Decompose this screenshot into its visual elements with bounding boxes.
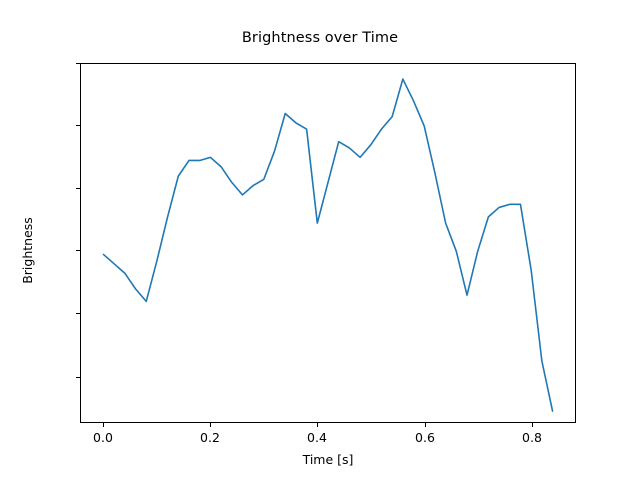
x-tick-label: 0.6 bbox=[395, 430, 455, 445]
x-tick-mark bbox=[210, 423, 211, 427]
line-series-svg bbox=[81, 64, 575, 422]
plot-area bbox=[80, 63, 576, 423]
x-axis-label: Time [s] bbox=[80, 452, 576, 467]
x-tick-mark bbox=[317, 423, 318, 427]
x-tick-mark bbox=[425, 423, 426, 427]
x-tick-label: 0.2 bbox=[180, 430, 240, 445]
x-tick-label: 0.4 bbox=[287, 430, 347, 445]
chart-title: Brightness over Time bbox=[0, 30, 640, 46]
figure-canvas: Brightness over Time Brightness Time [s]… bbox=[0, 0, 640, 480]
x-tick-label: 0.8 bbox=[502, 430, 562, 445]
x-tick-label: 0.0 bbox=[73, 430, 133, 445]
y-axis-label: Brightness bbox=[20, 217, 35, 284]
x-tick-mark bbox=[103, 423, 104, 427]
x-tick-mark bbox=[532, 423, 533, 427]
brightness-line-series bbox=[103, 79, 552, 411]
